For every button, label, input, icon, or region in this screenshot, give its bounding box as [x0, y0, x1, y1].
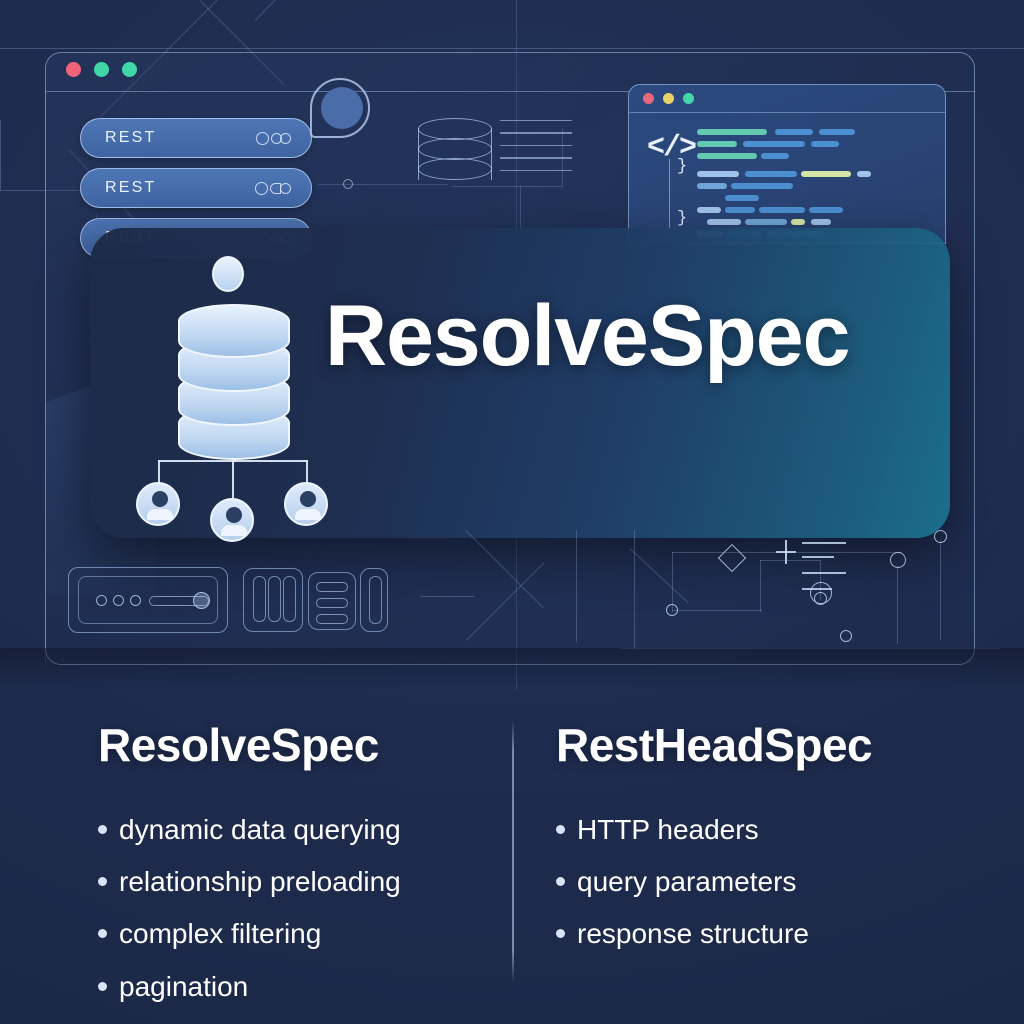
code-line: [759, 207, 805, 213]
server-knob: [193, 592, 210, 609]
logo-user-node: [210, 498, 254, 542]
frame-inner-line: [45, 92, 46, 665]
list-item-label: pagination: [119, 971, 248, 1003]
record-line: [500, 157, 572, 158]
db-disc: [418, 118, 492, 140]
list-item-label: HTTP headers: [577, 814, 759, 846]
code-line: [791, 219, 805, 225]
circuit-trace: [672, 552, 673, 612]
code-line: [811, 219, 831, 225]
ui-bar: [802, 572, 846, 574]
list-item-label: response structure: [577, 918, 809, 950]
list-item-label: dynamic data querying: [119, 814, 401, 846]
rack-bar: [316, 598, 348, 608]
code-brace: }: [677, 209, 687, 228]
server-led: [96, 595, 107, 606]
maximize-dot[interactable]: [122, 62, 137, 77]
circuit-node: [934, 530, 947, 543]
database-outline-icon: [418, 118, 492, 190]
code-line: [775, 129, 813, 135]
circuit-trace: [672, 610, 762, 611]
ui-bar: [802, 542, 846, 544]
circle-icon: [280, 183, 291, 194]
rest-row-label: REST: [105, 129, 156, 147]
code-line: [697, 207, 721, 213]
column-divider: [512, 720, 514, 982]
record-line: [500, 120, 572, 121]
circle-icon: [810, 582, 832, 604]
rest-row-icons: [255, 182, 291, 195]
page-title: ResolveSpec: [325, 293, 849, 379]
circle-icon: [255, 182, 268, 195]
code-line: [809, 207, 843, 213]
close-dot[interactable]: [643, 93, 654, 104]
logo-connector: [232, 460, 234, 502]
list-item-label: complex filtering: [119, 918, 321, 950]
code-line: [801, 171, 851, 177]
rack-slot: [268, 576, 281, 622]
rack-bar: [316, 582, 348, 592]
circuit-trace: [634, 530, 635, 650]
list-item: relationship preloading: [98, 866, 498, 898]
list-item: response structure: [556, 918, 976, 950]
logo-connector: [234, 460, 308, 462]
server-led: [113, 595, 124, 606]
maximize-dot[interactable]: [683, 93, 694, 104]
code-line: [819, 129, 855, 135]
rack-slot: [283, 576, 296, 622]
grid-line: [420, 596, 474, 597]
rest-row-label: REST: [105, 179, 156, 197]
logo-cylinder-stack: [178, 302, 290, 462]
bullet-icon: [98, 825, 107, 834]
logo-top-node: [212, 256, 244, 292]
outer-traffic-lights[interactable]: [66, 62, 137, 77]
rest-row[interactable]: REST: [80, 168, 312, 208]
ground-shadow: [0, 648, 1024, 690]
list-item: pagination: [98, 971, 498, 1003]
list-item: dynamic data querying: [98, 814, 498, 846]
code-line: [697, 183, 727, 189]
rest-row-icons: [256, 132, 291, 145]
record-line: [500, 132, 572, 133]
code-line: [745, 219, 787, 225]
code-line: [707, 219, 741, 225]
feature-column-restheadspec: RestHeadSpec HTTP headers query paramete…: [556, 690, 976, 971]
list-item: query parameters: [556, 866, 976, 898]
code-line: [745, 171, 797, 177]
grid-line: [576, 530, 577, 642]
bullet-icon: [98, 877, 107, 886]
feature-list: HTTP headers query parameters response s…: [556, 814, 976, 951]
bullet-icon: [556, 877, 565, 886]
poster-root: REST REST REST: [0, 0, 1024, 1024]
code-line: [697, 153, 757, 159]
list-item: complex filtering: [98, 918, 498, 950]
feature-heading: RestHeadSpec: [556, 718, 976, 772]
bullet-icon: [98, 929, 107, 938]
circuit-node: [840, 630, 852, 642]
list-item-label: query parameters: [577, 866, 796, 898]
minimize-dot[interactable]: [663, 93, 674, 104]
bullet-icon: [556, 825, 565, 834]
code-line: [697, 171, 739, 177]
hero-illustration: REST REST REST: [0, 0, 1024, 690]
rest-row[interactable]: REST: [80, 118, 312, 158]
chat-bubble-icon: [310, 78, 370, 138]
rack-bar: [316, 614, 348, 624]
ui-bar: [802, 556, 834, 558]
rack-slot: [369, 576, 382, 624]
code-window-titlebar: [629, 85, 945, 113]
close-dot[interactable]: [66, 62, 81, 77]
code-brackets-icon: </>: [647, 131, 695, 165]
code-line: [743, 141, 805, 147]
circle-icon: [256, 132, 269, 145]
feature-column-resolvespec: ResolveSpec dynamic data querying relati…: [98, 690, 498, 1023]
code-line: [811, 141, 839, 147]
circuit-trace: [760, 560, 761, 612]
logo-connector: [158, 460, 236, 462]
code-brace: }: [677, 157, 687, 176]
feature-heading: ResolveSpec: [98, 718, 498, 772]
code-window: </> } }: [628, 84, 946, 244]
logo-user-node: [284, 482, 328, 526]
code-line: [697, 141, 737, 147]
record-line: [500, 145, 572, 146]
record-line: [500, 170, 572, 171]
db-disc: [418, 158, 492, 180]
rack-slot: [253, 576, 266, 622]
code-line: [857, 171, 871, 177]
grid-diagonal: [255, 0, 388, 21]
plus-icon: [776, 540, 796, 564]
server-led: [130, 595, 141, 606]
code-line: [697, 129, 767, 135]
list-item: HTTP headers: [556, 814, 976, 846]
code-line: [725, 207, 755, 213]
record-lines: [500, 120, 572, 182]
database-nodes-logo: [128, 256, 338, 511]
code-line: [761, 153, 789, 159]
code-line: [725, 195, 759, 201]
grid-line: [0, 120, 1, 190]
code-window-body: </> } }: [629, 113, 945, 244]
circuit-trace: [940, 540, 941, 640]
code-line: [731, 183, 793, 189]
list-item-label: relationship preloading: [119, 866, 401, 898]
circuit-node: [666, 604, 678, 616]
minimize-dot[interactable]: [94, 62, 109, 77]
circuit-node: [890, 552, 906, 568]
feature-comparison: ResolveSpec dynamic data querying relati…: [0, 690, 1024, 1024]
circle-icon: [280, 133, 291, 144]
db-disc: [418, 138, 492, 160]
circuit-trace: [897, 566, 898, 644]
logo-cylinder-segment: [178, 304, 290, 358]
bullet-icon: [556, 929, 565, 938]
bullet-icon: [98, 982, 107, 991]
grid-line: [0, 48, 1024, 49]
logo-user-node: [136, 482, 180, 526]
feature-list: dynamic data querying relationship prelo…: [98, 814, 498, 1003]
